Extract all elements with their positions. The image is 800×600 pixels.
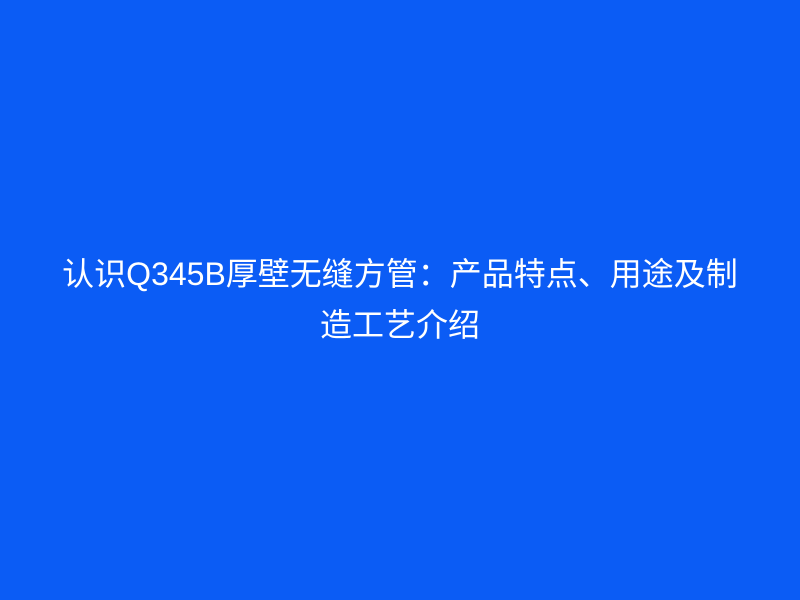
title-block: 认识Q345B厚壁无缝方管：产品特点、用途及制造工艺介绍: [40, 249, 760, 351]
banner-title: 认识Q345B厚壁无缝方管：产品特点、用途及制造工艺介绍: [48, 249, 752, 351]
banner-canvas: 认识Q345B厚壁无缝方管：产品特点、用途及制造工艺介绍: [0, 0, 800, 600]
